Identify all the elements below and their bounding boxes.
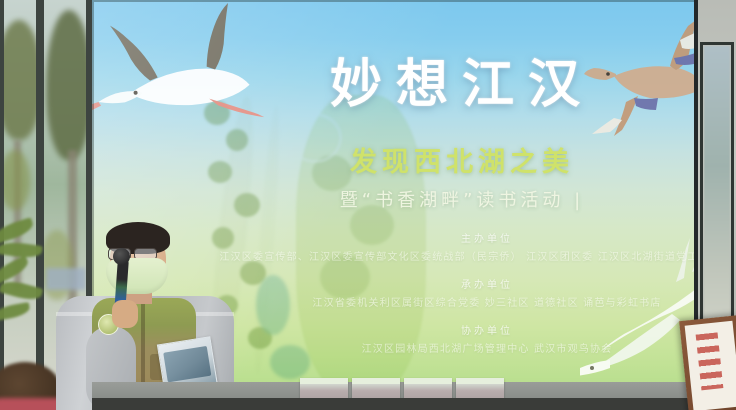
credit-label-coorganizer: 协办单位 xyxy=(188,322,698,337)
window-mullion xyxy=(36,0,44,410)
credit-line-coorganizer: 江汉区园林局西北湖广场管理中心 武汉市观鸟协会 xyxy=(188,340,698,355)
slide-title-sub: 发现西北湖之美 xyxy=(242,140,682,179)
credit-line-host: 江汉区委宣传部、江汉区委宣传部文化区委统战部（民宗侨） 江汉区团区委 江汉区北湖… xyxy=(188,248,698,263)
slide-title-main: 妙想江汉 xyxy=(252,42,672,117)
credit-label-organizer: 承办单位 xyxy=(188,276,698,291)
tree-foliage-icon xyxy=(0,150,30,210)
credit-label-host: 主办单位 xyxy=(188,230,698,245)
screenshot-root: 妙想江汉 发现西北湖之美 暨“书香湖畔”读书活动 | 主办单位 江汉区委宣传部、… xyxy=(0,0,736,410)
presenter-hand-holding-mic xyxy=(112,300,138,328)
window-mullion xyxy=(0,0,4,410)
microphone-head-icon xyxy=(113,248,130,265)
potted-plant xyxy=(0,215,46,335)
slide-title-sub2: 暨“书香湖畔”读书活动 | xyxy=(242,186,682,212)
credit-line-organizer: 江汉省委机关利区属街区综合党委 妙三社区 道德社区 诵芭与彩虹书店 xyxy=(188,294,698,309)
framed-calligraphy xyxy=(679,315,736,410)
side-window-frame xyxy=(700,42,734,350)
framed-calligraphy-canvas xyxy=(685,321,736,410)
front-table-edge xyxy=(92,398,698,410)
window-pane-outer xyxy=(2,0,36,410)
slide-credits: 主办单位 江汉区委宣传部、江汉区委宣传部文化区委统战部（民宗侨） 江汉区团区委 … xyxy=(188,230,698,368)
